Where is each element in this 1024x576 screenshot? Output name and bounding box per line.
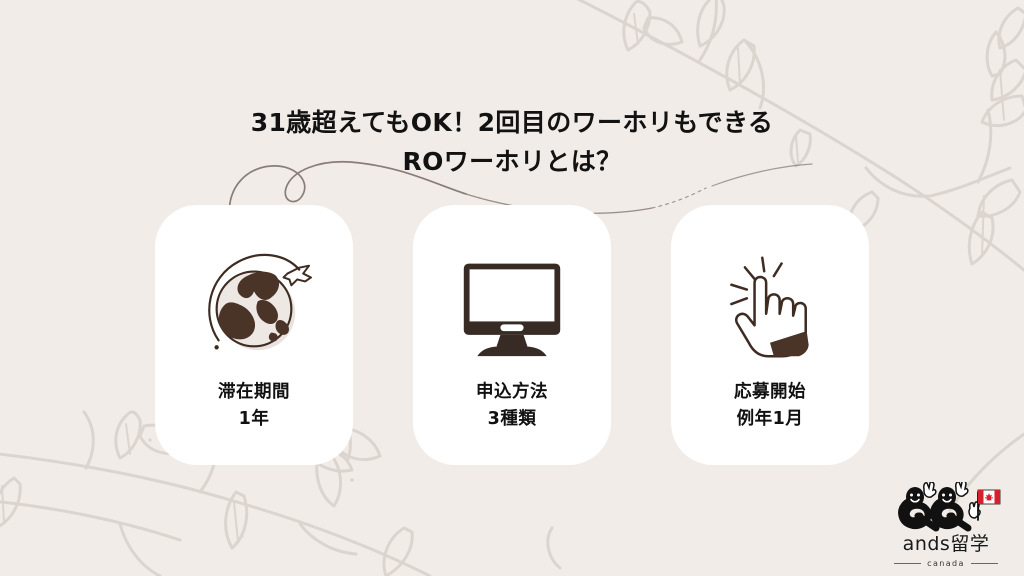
desktop-monitor-icon bbox=[451, 247, 573, 365]
page-title: 31歳超えてもOK！2回目のワーホリもできる ROワーホリとは？ bbox=[0, 104, 1024, 182]
logo-subtitle-row: canada bbox=[894, 559, 998, 568]
title-line-2: ROワーホリとは？ bbox=[0, 143, 1024, 182]
card-label-line-1: 申込方法 bbox=[476, 379, 548, 406]
logo-wordmark: ands留学 bbox=[903, 535, 990, 554]
card-label-line-1: 応募開始 bbox=[734, 379, 806, 406]
feature-card-stay-duration[interactable]: 滞在期間 1年 bbox=[155, 205, 353, 465]
globe-airplane-icon bbox=[193, 247, 315, 365]
brand-logo[interactable]: ands留学 canada bbox=[884, 482, 1008, 568]
ands-ampersand-mark-icon bbox=[890, 482, 1002, 534]
feature-card-application-start[interactable]: 応募開始 例年1月 bbox=[671, 205, 869, 465]
card-label-line-2: 3種類 bbox=[476, 406, 548, 433]
feature-card-label: 申込方法 3種類 bbox=[476, 379, 548, 433]
feature-card-label: 滞在期間 1年 bbox=[218, 379, 290, 433]
card-label-line-1: 滞在期間 bbox=[218, 379, 290, 406]
card-label-line-2: 1年 bbox=[218, 406, 290, 433]
logo-rule-left bbox=[894, 563, 921, 564]
logo-rule-right bbox=[971, 563, 998, 564]
card-label-line-2: 例年1月 bbox=[734, 406, 806, 433]
feature-card-list: 滞在期間 1年 申込方法 3種類 bbox=[155, 205, 869, 465]
feature-card-label: 応募開始 例年1月 bbox=[734, 379, 806, 433]
logo-subtitle: canada bbox=[927, 559, 965, 568]
canada-flag-icon bbox=[978, 490, 1000, 504]
title-line-1: 31歳超えてもOK！2回目のワーホリもできる bbox=[0, 104, 1024, 143]
pointing-hand-click-icon bbox=[709, 247, 831, 365]
feature-card-application-method[interactable]: 申込方法 3種類 bbox=[413, 205, 611, 465]
